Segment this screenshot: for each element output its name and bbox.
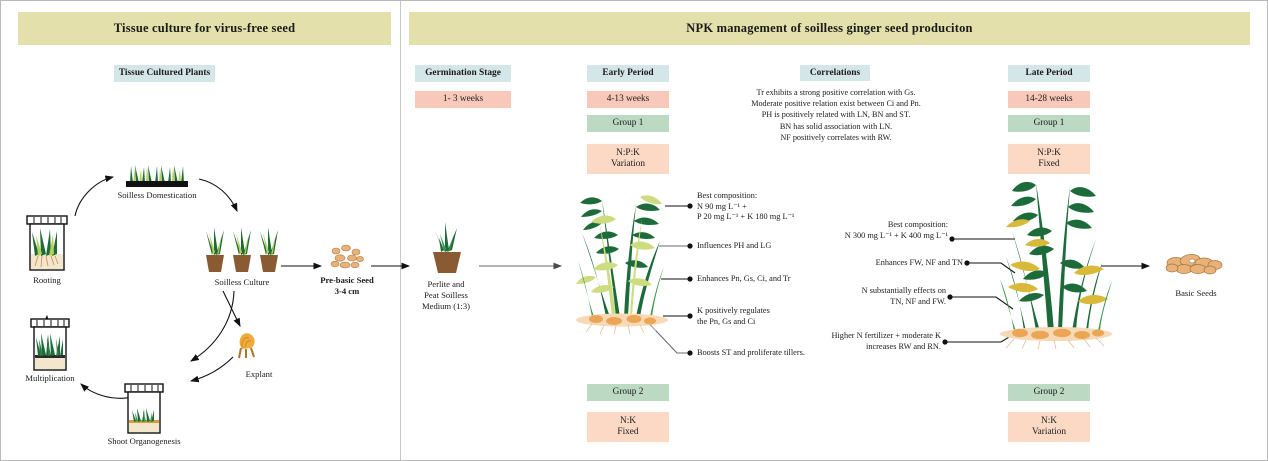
note-line: N substantially effects on: [794, 286, 946, 297]
tag-late-group2: Group 2: [1008, 384, 1090, 401]
note-early-best-composition: Best composition: N 90 mg L⁻¹ + P 20 mg …: [697, 191, 847, 223]
note-line: Enhances FW, NF and TN: [811, 258, 963, 269]
note-line: N 90 mg L⁻¹ +: [697, 202, 847, 213]
tag-early-weeks: 4-13 weeks: [587, 91, 669, 108]
explant-rhizome: [232, 329, 262, 359]
note-late-higher-n-fertilizer: Higher N fertilizer + moderate K increas…: [775, 331, 941, 352]
correlation-line: BN has solid association with LN.: [719, 121, 953, 132]
soilless-domestication-tray: [126, 163, 188, 187]
label-pre-basic-seed: Pre-basic Seed: [307, 275, 387, 285]
multiplication-jar: [30, 319, 70, 371]
note-line: N 300 mg L⁻¹ + K 400 mg L⁻¹: [796, 231, 948, 242]
late-period-plant: [996, 169, 1116, 349]
correlation-line: Tr exhibits a strong positive correlatio…: [719, 87, 953, 98]
label-multiplication: Multiplication: [8, 373, 92, 383]
label-pre-basic-seed-size: 3-4 cm: [307, 286, 387, 296]
late-ratio2-line2: Variation: [1032, 427, 1066, 438]
label-medium-line2: Peat Soilless: [406, 290, 486, 300]
early-ratio1-line1: N:P:K: [616, 148, 640, 159]
note-line: Best composition:: [796, 220, 948, 231]
tag-correlations: Correlations: [800, 65, 870, 81]
note-early-k-regulates: K positively regulates the Pn, Gs and Ci: [697, 306, 847, 327]
basic-seeds-graphic: [1164, 249, 1226, 279]
tag-early-group2: Group 2: [587, 384, 669, 401]
perlite-peat-pot: [423, 216, 469, 274]
label-explant: Explant: [229, 369, 289, 379]
early-period-plant: [572, 177, 672, 337]
note-line: increases RW and RN.: [775, 342, 941, 353]
tag-germination-stage: Germination Stage: [415, 65, 511, 82]
tag-early-period: Early Period: [587, 65, 669, 82]
note-line: Influences PH and LG: [697, 241, 847, 252]
early-ratio2-line2: Fixed: [617, 427, 638, 438]
note-early-enhances: Enhances Pn, Gs, Ci, and Tr: [697, 274, 857, 285]
note-line: the Pn, Gs and Ci: [697, 317, 847, 328]
tag-early-ratio1: N:P:K Variation: [587, 144, 669, 174]
label-medium-line3: Medium (1:3): [406, 301, 486, 311]
label-shoot-organogenesis: Shoot Organogenesis: [98, 436, 190, 446]
tag-late-period: Late Period: [1008, 65, 1090, 82]
early-ratio2-line1: N:K: [620, 416, 636, 427]
note-late-enhances: Enhances FW, NF and TN: [811, 258, 963, 269]
correlations-text: Tr exhibits a strong positive correlatio…: [719, 87, 953, 143]
tag-late-group1: Group 1: [1008, 115, 1090, 132]
note-line: K positively regulates: [697, 306, 847, 317]
label-rooting: Rooting: [14, 275, 80, 285]
note-late-n-effects: N substantially effects on TN, NF and FW…: [794, 286, 946, 307]
note-line: Higher N fertilizer + moderate K: [775, 331, 941, 342]
label-soilless-culture: Soilless Culture: [197, 277, 287, 287]
correlation-line: Moderate positive relation exist between…: [719, 98, 953, 109]
tag-germination-weeks: 1- 3 weeks: [415, 91, 511, 108]
correlation-line: PH is positively related with LN, BN and…: [719, 109, 953, 120]
shoot-organogenesis-jar: [124, 384, 164, 434]
early-ratio1-line2: Variation: [611, 159, 645, 170]
note-late-best-composition: Best composition: N 300 mg L⁻¹ + K 400 m…: [796, 220, 948, 241]
note-line: TN, NF and FW.: [794, 297, 946, 308]
late-ratio2-line1: N:K: [1041, 416, 1057, 427]
tag-early-ratio2: N:K Fixed: [587, 412, 669, 442]
soilless-culture-pots: [200, 219, 284, 273]
correlation-line: NF positively correlates with RW.: [719, 132, 953, 143]
label-basic-seeds: Basic Seeds: [1161, 288, 1231, 298]
tag-late-weeks: 14-28 weeks: [1008, 91, 1090, 108]
figure-canvas: Tissue culture for virus-free seed NPK m…: [0, 0, 1268, 461]
note-line: Best composition:: [697, 191, 847, 202]
pre-basic-seed-graphic: [327, 244, 367, 270]
tag-early-group1: Group 1: [587, 115, 669, 132]
note-early-influences-ph-lg: Influences PH and LG: [697, 241, 847, 252]
late-ratio1-line1: N:P:K: [1037, 148, 1061, 159]
label-medium-line1: Perlite and: [406, 279, 486, 289]
note-line: Enhances Pn, Gs, Ci, and Tr: [697, 274, 857, 285]
tag-late-ratio2: N:K Variation: [1008, 412, 1090, 442]
label-soilless-domestication: Soilless Domestication: [101, 190, 213, 200]
rooting-jar: [26, 216, 68, 271]
